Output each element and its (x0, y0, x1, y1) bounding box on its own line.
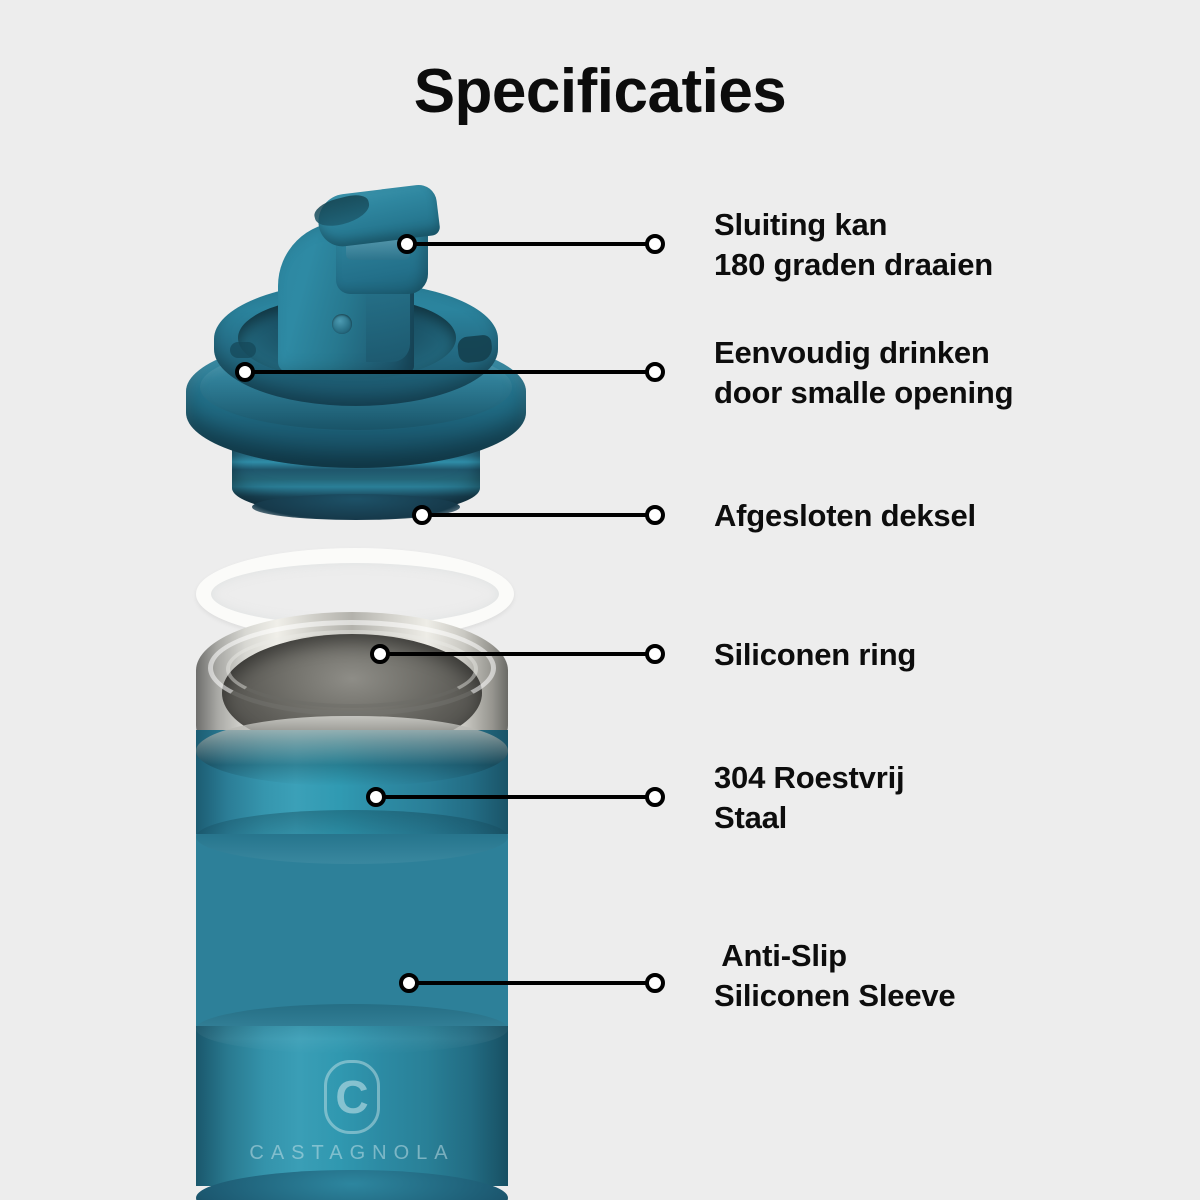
leader-bar (375, 795, 656, 799)
leader-anchor-dot (397, 234, 417, 254)
leader-endpoint-dot (645, 787, 665, 807)
lid-pivot-screw (332, 314, 352, 334)
specification-infographic: Specificaties (0, 0, 1200, 1200)
leader-endpoint-dot (645, 644, 665, 664)
leader-anchor-dot (366, 787, 386, 807)
leader-endpoint-dot (645, 362, 665, 382)
anti-slip-ribbed-sleeve (196, 834, 508, 1046)
leader-anchor-dot (370, 644, 390, 664)
cup-lower-base (196, 1026, 508, 1186)
leader-line-sealed-lid (412, 502, 665, 528)
leader-line-silicone-ring (370, 641, 665, 667)
leader-line-easy-drinking (235, 359, 665, 385)
cup-body: CASTAGNOLA (196, 612, 508, 1200)
callout-label-easy-drinking: Eenvoudig drinken door smalle opening (714, 333, 1013, 414)
callout-label-silicone-ring: Siliconen ring (714, 635, 916, 675)
lid-notch-left (230, 342, 256, 358)
leader-anchor-dot (412, 505, 432, 525)
leader-bar (244, 370, 656, 374)
leader-endpoint-dot (645, 234, 665, 254)
callout-label-stainless-steel: 304 Roestvrij Staal (714, 758, 904, 839)
callout-label-sealed-lid: Afgesloten deksel (714, 496, 976, 536)
callout-label-closure-rotation: Sluiting kan 180 graden draaien (714, 205, 993, 286)
leader-line-anti-slip-sleeve (399, 970, 665, 996)
leader-line-stainless-steel (366, 784, 665, 810)
leader-line-closure-rotation (397, 231, 665, 257)
callout-label-anti-slip-sleeve: Anti-Slip Siliconen Sleeve (714, 936, 955, 1017)
leader-endpoint-dot (645, 973, 665, 993)
leader-anchor-dot (399, 973, 419, 993)
leader-endpoint-dot (645, 505, 665, 525)
leader-bar (408, 981, 656, 985)
product-illustration: CASTAGNOLA (0, 0, 700, 1200)
leader-bar (379, 652, 656, 656)
leader-bar (421, 513, 656, 517)
leader-bar (406, 242, 656, 246)
leader-anchor-dot (235, 362, 255, 382)
